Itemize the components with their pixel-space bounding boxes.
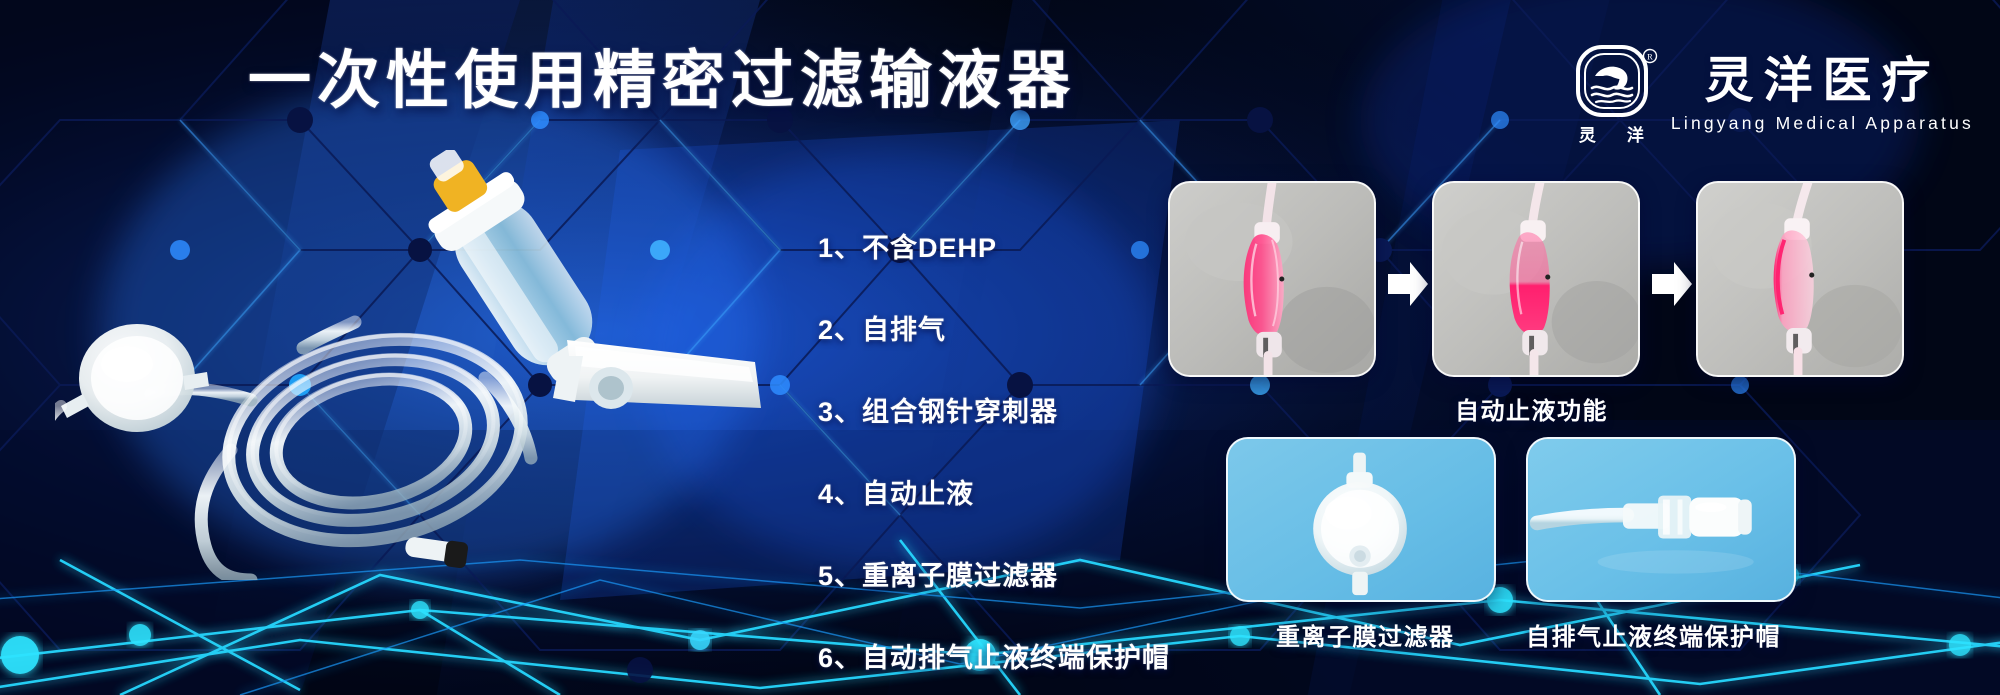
brand-logo: R 灵 洋 灵洋医疗 Lingyang Medical Apparatus (1575, 44, 1974, 146)
page-title: 一次性使用精密过滤输液器 (248, 48, 1076, 114)
demo-sequence-caption: 自动止液功能 (1455, 391, 1608, 426)
brand-name-en: Lingyang Medical Apparatus (1671, 113, 1974, 134)
lingyang-circular-emblem-icon: R (1575, 44, 1649, 118)
feature-item-1: 1、不含DEHP (818, 226, 1170, 265)
emblem-group: R 灵 洋 (1575, 44, 1649, 146)
product-filter-part (55, 324, 209, 456)
promotional-banner: 一次性使用精密过滤输液器 R (0, 0, 2000, 695)
product-injection-port-part (404, 536, 469, 569)
emblem-char-ling: 灵 (1579, 121, 1597, 146)
product-card-filter (1226, 437, 1496, 602)
feature-item-4: 4、自动止液 (818, 472, 1170, 511)
feature-list: 1、不含DEHP 2、自排气 3、组合钢针穿刺器 4、自动止液 5、重离子膜过滤… (818, 226, 1170, 675)
brand-name-group: 灵洋医疗 Lingyang Medical Apparatus (1671, 56, 1974, 134)
emblem-chinese-label: 灵 洋 (1579, 121, 1645, 146)
demo-frame-3 (1696, 181, 1904, 377)
right-arrow-icon-2 (1650, 258, 1694, 310)
registered-trademark-icon: R (1642, 48, 1658, 64)
feature-item-5: 5、重离子膜过滤器 (818, 554, 1170, 593)
feature-item-2: 2、自排气 (818, 308, 1170, 347)
product-card-filter-caption: 重离子膜过滤器 (1276, 617, 1455, 652)
demo-frame-1 (1168, 181, 1376, 377)
svg-text:R: R (1647, 52, 1653, 62)
right-arrow-icon-1 (1386, 258, 1430, 310)
product-card-protective-cap (1526, 437, 1796, 602)
product-card-protective-cap-caption: 自排气止液终端保护帽 (1526, 617, 1781, 652)
feature-item-3: 3、组合钢针穿刺器 (818, 390, 1170, 429)
feature-item-6: 6、自动排气止液终端保护帽 (818, 636, 1170, 675)
emblem-char-yang: 洋 (1627, 121, 1645, 146)
main-product-photo (55, 150, 775, 580)
demo-frame-2 (1432, 181, 1640, 377)
brand-name-cn: 灵洋医疗 (1704, 56, 1940, 108)
product-flow-regulator-part (553, 340, 761, 409)
